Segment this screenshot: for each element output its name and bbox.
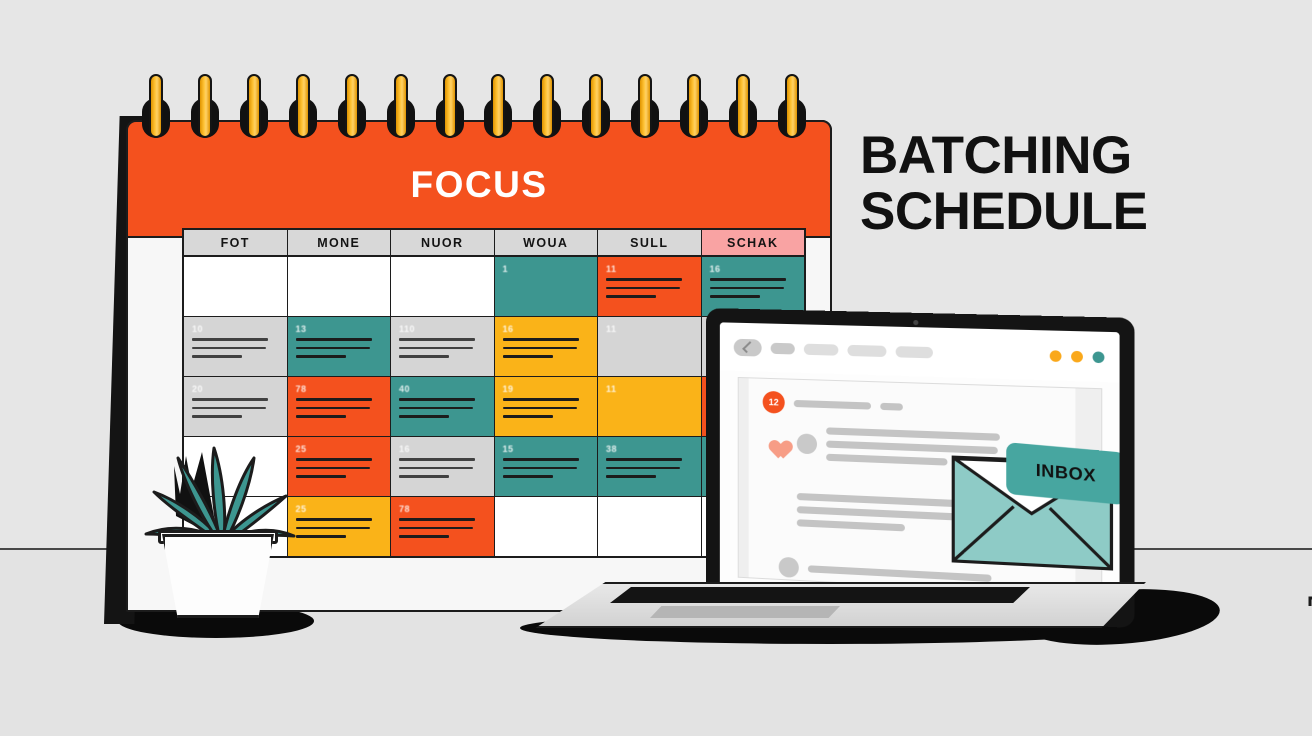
calendar-title: FOCUS — [128, 164, 830, 206]
event-line — [296, 467, 370, 470]
plant-pot — [162, 534, 274, 618]
event-line — [606, 295, 656, 298]
event-line — [710, 295, 760, 298]
event-line — [192, 407, 266, 410]
event-line — [296, 415, 346, 418]
calendar-day-cell[interactable] — [391, 257, 495, 316]
calendar-day-cell[interactable] — [184, 257, 288, 316]
event-text-lines — [606, 278, 693, 298]
amber-dot-icon[interactable] — [1050, 350, 1062, 362]
event-text-lines — [192, 338, 279, 358]
calendar-column-header-woua: WOUA — [495, 230, 599, 255]
trackpad[interactable] — [650, 606, 840, 618]
toolbar-pill[interactable] — [804, 343, 838, 355]
event-text-lines — [296, 338, 383, 358]
event-line — [399, 475, 449, 478]
event-text-lines — [399, 518, 486, 538]
unread-count-badge: 12 — [763, 391, 785, 414]
day-number: 11 — [606, 264, 693, 274]
spiral-ring — [296, 74, 310, 138]
event-line — [296, 458, 372, 461]
event-line — [296, 475, 346, 478]
day-number: 25 — [296, 444, 383, 454]
calendar-day-cell[interactable]: 78 — [391, 497, 495, 556]
spiral-ring — [638, 74, 652, 138]
event-line — [399, 347, 473, 350]
potted-plant — [140, 430, 300, 620]
day-number: 110 — [399, 324, 486, 334]
spiral-ring — [443, 74, 457, 138]
event-line — [296, 338, 372, 341]
event-line — [192, 347, 266, 350]
webcam-icon — [913, 320, 918, 325]
event-line — [296, 527, 370, 530]
event-line — [606, 278, 682, 281]
calendar-day-cell[interactable]: 78 — [288, 377, 392, 436]
calendar-column-header-fot: FOT — [184, 230, 288, 255]
event-line — [399, 458, 475, 461]
event-line — [399, 338, 475, 341]
day-number: 40 — [399, 384, 486, 394]
back-arrow-icon[interactable] — [734, 338, 762, 356]
calendar-day-cell[interactable]: 25 — [288, 497, 392, 556]
spiral-ring — [687, 74, 701, 138]
spiral-ring — [247, 74, 261, 138]
toolbar-pill[interactable] — [896, 346, 933, 358]
calendar-day-cell[interactable]: 20 — [184, 377, 288, 436]
event-line — [296, 407, 370, 410]
event-text-lines — [192, 398, 279, 418]
calendar-column-header-schak: SCHAK — [702, 230, 805, 255]
event-line — [399, 527, 473, 530]
event-line — [296, 518, 372, 521]
laptop-base — [510, 582, 1146, 638]
day-number: 25 — [296, 504, 383, 514]
spiral-ring — [589, 74, 603, 138]
spiral-ring — [540, 74, 554, 138]
calendar-day-cell[interactable]: 25 — [288, 437, 392, 496]
list-item[interactable]: 12 — [763, 391, 903, 418]
event-text-lines — [296, 458, 383, 478]
event-line — [296, 355, 346, 358]
event-line — [606, 287, 680, 290]
spiral-ring — [149, 74, 163, 138]
day-number: 78 — [296, 384, 383, 394]
illustration-canvas: FOCUS FOTMONENUORWOUASULLSCHAK 111161013… — [0, 0, 1312, 736]
avatar — [779, 557, 799, 578]
spiral-ring — [785, 74, 799, 138]
event-line — [399, 518, 475, 521]
title-line-1: BATCHING — [860, 126, 1132, 185]
calendar-column-header-sull: SULL — [598, 230, 702, 255]
heart-reaction-icon — [765, 431, 787, 452]
laptop-screen: 12 — [720, 322, 1120, 610]
event-line — [399, 415, 449, 418]
keyboard-area[interactable] — [610, 587, 1030, 603]
spiral-ring — [345, 74, 359, 138]
teal-dot-icon[interactable] — [1093, 351, 1105, 363]
event-text-lines — [710, 278, 797, 298]
event-line — [399, 398, 475, 401]
calendar-day-cell[interactable]: 16 — [391, 437, 495, 496]
event-line — [192, 415, 242, 418]
day-number: 16 — [710, 264, 797, 274]
event-line — [296, 347, 370, 350]
event-line — [296, 535, 346, 538]
spiral-ring — [736, 74, 750, 138]
event-line — [192, 398, 268, 401]
calendar-day-cell[interactable]: 10 — [184, 317, 288, 376]
browser-toolbar — [720, 322, 1120, 382]
calendar-header-band: FOCUS — [126, 120, 832, 238]
event-line — [710, 287, 784, 290]
calendar-day-cell[interactable] — [288, 257, 392, 316]
event-line — [710, 278, 786, 281]
event-line — [399, 535, 449, 538]
page-title: BATCHING SCHEDULE — [860, 128, 1280, 240]
event-line — [399, 355, 449, 358]
event-text-lines — [399, 398, 486, 418]
calendar-column-header-mone: MONE — [288, 230, 392, 255]
event-line — [192, 338, 268, 341]
day-number: 78 — [399, 504, 486, 514]
spiral-ring — [491, 74, 505, 138]
event-line — [296, 398, 372, 401]
day-number: 20 — [192, 384, 279, 394]
calendar-day-cell[interactable]: 110 — [391, 317, 495, 376]
spiral-ring — [198, 74, 212, 138]
event-text-lines — [399, 338, 486, 358]
event-text-lines — [399, 458, 486, 478]
event-text-lines — [296, 398, 383, 418]
calendar-column-header-nuor: NUOR — [391, 230, 495, 255]
event-line — [399, 407, 473, 410]
event-line — [399, 467, 473, 470]
calendar-day-cell[interactable]: 13 — [288, 317, 392, 376]
day-number: 10 — [192, 324, 279, 334]
laptop-lid: 12 — [706, 308, 1135, 628]
laptop: 12 — [510, 300, 1160, 630]
calendar-weekday-header: FOTMONENUORWOUASULLSCHAK — [184, 230, 804, 257]
day-number: 13 — [296, 324, 383, 334]
calendar-day-cell[interactable]: 40 — [391, 377, 495, 436]
day-number: 16 — [399, 444, 486, 454]
toolbar-pill[interactable] — [771, 342, 795, 354]
toolbar-pill[interactable] — [847, 344, 886, 356]
avatar — [797, 433, 817, 454]
spiral-ring — [394, 74, 408, 138]
day-number: 1 — [503, 264, 590, 274]
title-line-2: SCHEDULE — [860, 184, 1280, 240]
event-line — [192, 355, 242, 358]
amber-dot-icon[interactable] — [1071, 350, 1083, 362]
event-text-lines — [296, 518, 383, 538]
